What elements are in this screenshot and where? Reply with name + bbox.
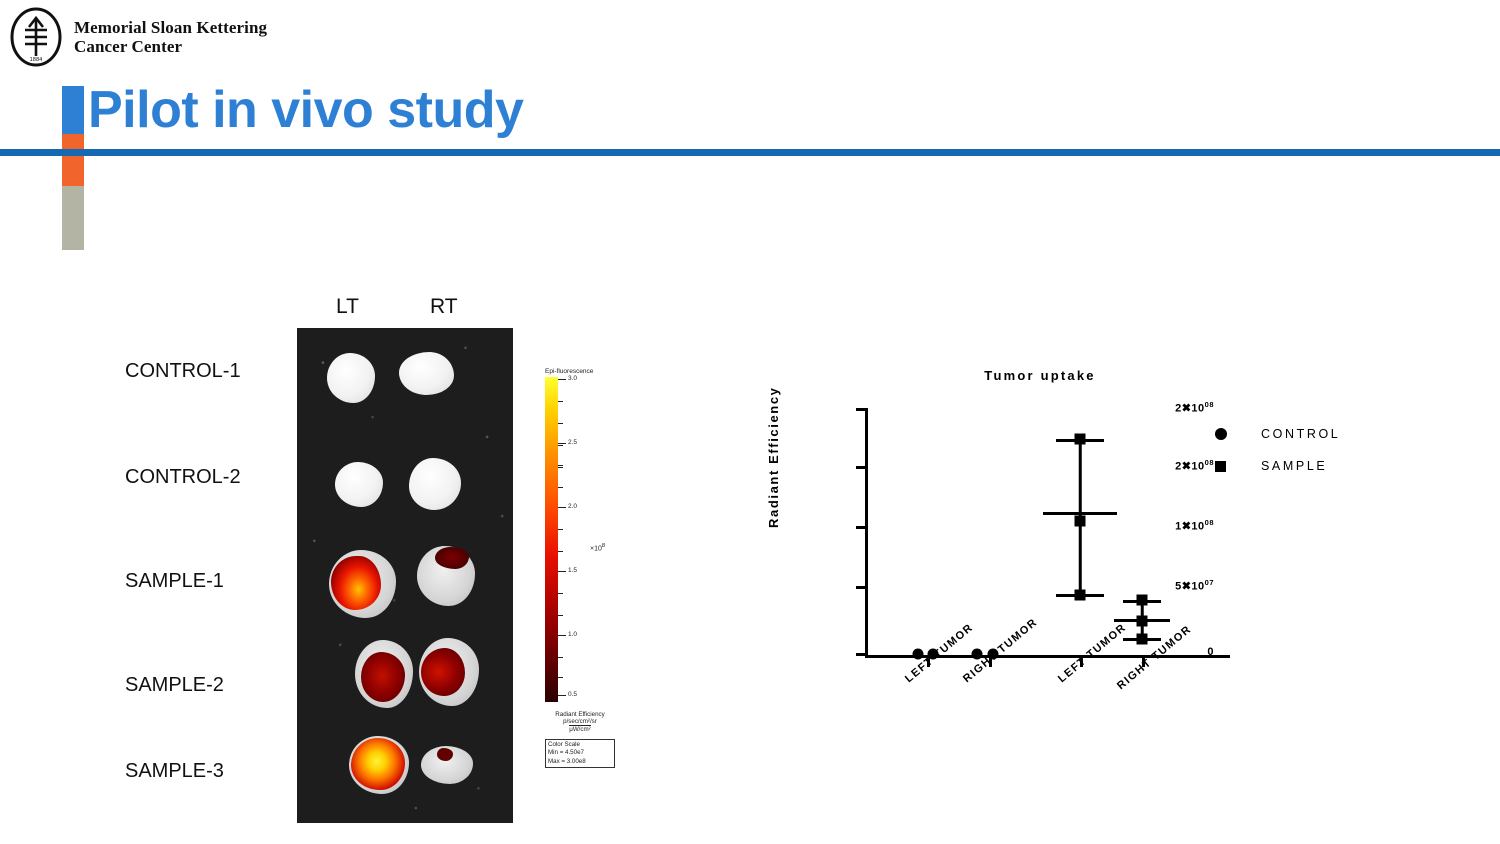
- y-tick-1: [856, 586, 865, 589]
- y-tick-label-2-times: ✖: [1182, 521, 1192, 533]
- brand-wordmark: Memorial Sloan Kettering Cancer Center: [74, 18, 267, 56]
- y-tick-label-4-exp: 08: [1205, 400, 1214, 409]
- y-tick-label-4-mantissa: 2: [1175, 403, 1182, 415]
- color-scale-legend: Epi-fluorescence 3.0 2.5 2.0 1.5 1.0 0.5…: [545, 368, 615, 768]
- color-scale-units: Radiant Efficiency p/sec/cm²/sr μW/cm²: [545, 711, 615, 733]
- svg-text:1884: 1884: [30, 57, 43, 63]
- y-tick-label-0: 0: [1207, 646, 1214, 658]
- row-label-sample-3: SAMPLE-3: [125, 760, 224, 783]
- y-tick-0: [856, 653, 865, 656]
- accent-segment-gray: [62, 186, 84, 250]
- row-label-sample-1: SAMPLE-1: [125, 570, 224, 593]
- color-scale-tick-1-0: 1.0: [568, 631, 577, 638]
- color-scale-tick-2-5: 2.5: [568, 439, 577, 446]
- chart-title: Tumor uptake: [760, 368, 1320, 383]
- color-scale-tick-0-5: 0.5: [568, 691, 577, 698]
- y-tick-label-2-exp: 08: [1205, 518, 1214, 527]
- color-scale-gradient-bar: [545, 377, 558, 702]
- data-point-sample-left-3: [1075, 590, 1086, 601]
- y-tick-label-4: 2✖1008: [1175, 400, 1214, 415]
- brand-line-2: Cancer Center: [74, 37, 267, 56]
- data-point-sample-left-1: [1075, 434, 1086, 445]
- legend-square-icon: [1215, 461, 1239, 472]
- row-label-sample-2: SAMPLE-2: [125, 674, 224, 697]
- color-scale-title: Epi-fluorescence: [545, 368, 615, 375]
- y-tick-label-1-times: ✖: [1182, 581, 1192, 593]
- legend-label-control: CONTROL: [1261, 427, 1340, 441]
- color-scale-box-title: Color Scale: [548, 741, 612, 749]
- brand-line-1: Memorial Sloan Kettering: [74, 18, 267, 37]
- y-axis-line: [865, 408, 868, 655]
- mean-bar-sample-left: [1043, 512, 1117, 515]
- data-point-control-left-2: [928, 649, 939, 660]
- y-tick-2: [856, 526, 865, 529]
- x-tick-label-2: LEFT TUMOR: [1056, 621, 1129, 685]
- bioluminescence-image: [297, 328, 513, 823]
- y-tick-3: [856, 466, 865, 469]
- y-tick-label-1-base: 10: [1191, 581, 1204, 593]
- y-tick-label-1-mantissa: 5: [1175, 581, 1182, 593]
- data-point-sample-right-1: [1137, 595, 1148, 606]
- color-scale-exponent-base: ×10: [590, 545, 602, 552]
- color-scale-tick-2-0: 2.0: [568, 503, 577, 510]
- color-scale-unit-denominator: μW/cm²: [569, 725, 590, 733]
- row-label-control-1: CONTROL-1: [125, 360, 241, 383]
- msk-tree-logo-icon: 1884: [8, 6, 64, 68]
- color-scale-exponent: ×108: [590, 543, 605, 552]
- title-divider-rule: [0, 149, 1500, 156]
- tumor-uptake-chart: Tumor uptake Radiant Efficiency 2✖1008 2…: [760, 360, 1380, 800]
- color-scale-body: 3.0 2.5 2.0 1.5 1.0 0.5 ×108: [545, 377, 615, 707]
- chart-legend: CONTROL SAMPLE: [1215, 418, 1340, 482]
- legend-item-sample: SAMPLE: [1215, 450, 1340, 482]
- y-tick-label-3: 2✖1008: [1175, 458, 1214, 473]
- color-scale-unit-title: Radiant Efficiency: [545, 711, 615, 718]
- y-tick-label-1-exp: 07: [1205, 578, 1214, 587]
- legend-circle-icon: [1215, 428, 1239, 440]
- color-scale-box-max: Max = 3.00e8: [548, 758, 612, 766]
- data-point-control-left-1: [913, 649, 924, 660]
- y-tick-label-2: 1✖1008: [1175, 518, 1214, 533]
- color-scale-box-min: Min = 4.50e7: [548, 749, 612, 757]
- y-tick-label-4-base: 10: [1191, 403, 1204, 415]
- column-header-lt: LT: [336, 295, 359, 319]
- color-scale-exponent-power: 8: [602, 543, 605, 549]
- y-tick-4: [856, 408, 865, 411]
- accent-segment-orange: [62, 134, 84, 186]
- y-tick-label-3-mantissa: 2: [1175, 461, 1182, 473]
- color-scale-tick-1-5: 1.5: [568, 567, 577, 574]
- color-scale-tick-3-0: 3.0: [568, 375, 577, 382]
- legend-item-control: CONTROL: [1215, 418, 1340, 450]
- column-header-rt: RT: [430, 295, 458, 319]
- brand-logo-block: 1884 Memorial Sloan Kettering Cancer Cen…: [8, 6, 267, 68]
- data-point-control-right-1: [972, 649, 983, 660]
- y-tick-label-2-mantissa: 1: [1175, 521, 1182, 533]
- y-tick-label-3-exp: 08: [1205, 458, 1214, 467]
- chart-y-axis-label: Radiant Efficiency: [766, 387, 781, 529]
- y-tick-label-4-times: ✖: [1182, 403, 1192, 415]
- row-label-control-2: CONTROL-2: [125, 466, 241, 489]
- chart-plot-area: 2✖1008 2✖1008 1✖1008 5✖1007 0 LEFT TUMOR…: [865, 408, 1230, 655]
- y-tick-label-1: 5✖1007: [1175, 578, 1214, 593]
- color-scale-range-box: Color Scale Min = 4.50e7 Max = 3.00e8: [545, 739, 615, 767]
- y-tick-label-2-base: 10: [1191, 521, 1204, 533]
- title-accent-bar: [62, 86, 84, 250]
- accent-segment-blue: [62, 86, 84, 134]
- color-scale-unit-numerator: p/sec/cm²/sr: [545, 718, 615, 725]
- data-point-sample-right-2: [1137, 616, 1148, 627]
- data-point-sample-right-3: [1137, 634, 1148, 645]
- page-title: Pilot in vivo study: [88, 80, 523, 140]
- y-tick-label-3-times: ✖: [1182, 461, 1192, 473]
- data-point-control-right-2: [988, 649, 999, 660]
- data-point-sample-left-2: [1075, 516, 1086, 527]
- y-tick-label-3-base: 10: [1191, 461, 1204, 473]
- legend-label-sample: SAMPLE: [1261, 459, 1327, 473]
